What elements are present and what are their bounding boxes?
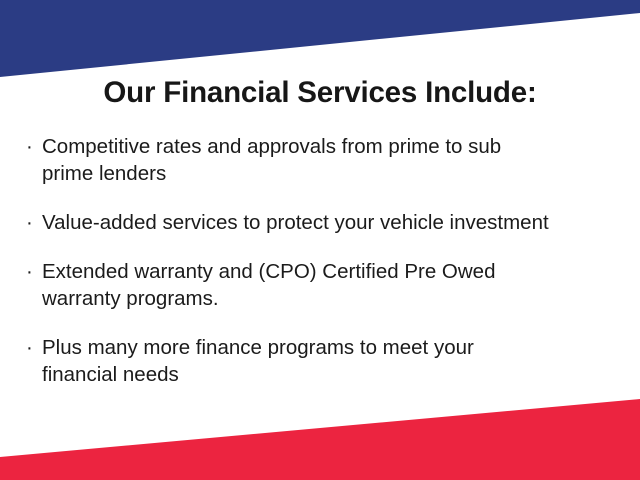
list-item-text: Plus many more finance programs to meet … [42, 334, 624, 388]
list-item-line-1: Extended warranty and (CPO) Certified Pr… [42, 260, 495, 283]
red-band-shape [0, 399, 640, 480]
list-item: · Competitive rates and approvals from p… [24, 133, 624, 187]
list-item: · Plus many more finance programs to mee… [24, 334, 624, 388]
page-title: Our Financial Services Include: [0, 76, 640, 110]
slide-canvas: Our Financial Services Include: · Compet… [0, 0, 640, 480]
list-item-line-1: Plus many more finance programs to meet … [42, 336, 474, 359]
bullet-list: · Competitive rates and approvals from p… [24, 133, 624, 388]
list-item-text: Competitive rates and approvals from pri… [42, 133, 624, 187]
bullet-dot-icon: · [26, 334, 33, 361]
navy-diagonal-band [0, 0, 640, 80]
list-item-line-2: prime lenders [42, 160, 624, 187]
bullet-dot-icon: · [26, 258, 33, 285]
list-item-line-1: Value-added services to protect your veh… [42, 211, 549, 234]
red-diagonal-band [0, 396, 640, 480]
list-item: · Extended warranty and (CPO) Certified … [24, 258, 624, 312]
list-item-text: Extended warranty and (CPO) Certified Pr… [42, 258, 624, 312]
list-item: · Value-added services to protect your v… [24, 209, 624, 236]
bullet-dot-icon: · [26, 209, 33, 236]
list-item-line-2: warranty programs. [42, 285, 624, 312]
navy-band-shape [0, 0, 640, 77]
list-item-line-1: Competitive rates and approvals from pri… [42, 135, 501, 158]
bullet-dot-icon: · [26, 133, 33, 160]
list-item-line-2: financial needs [42, 361, 624, 388]
list-item-text: Value-added services to protect your veh… [42, 209, 624, 236]
